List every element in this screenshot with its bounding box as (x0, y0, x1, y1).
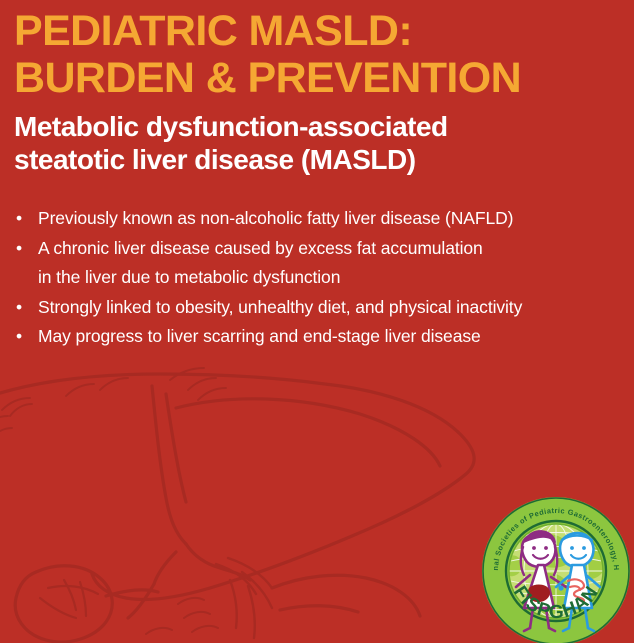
list-item-label: Previously known as non-alcoholic fatty … (38, 204, 626, 234)
bullet-dot-icon: • (16, 322, 30, 352)
page-title: PEDIATRIC MASLD: BURDEN & PREVENTION (14, 8, 620, 102)
liver-anatomy-illustration (0, 366, 540, 643)
headline-line-2: BURDEN & PREVENTION (14, 55, 620, 102)
bullet-dot-icon: • (16, 293, 30, 323)
list-item-label-continued: in the liver due to metabolic dysfunctio… (38, 263, 626, 293)
list-item: • Previously known as non-alcoholic fatt… (14, 204, 626, 234)
bullet-dot-icon: • (16, 204, 30, 234)
subtitle-line-1: Metabolic dysfunction-associated (14, 110, 614, 143)
subtitle-line-2: steatotic liver disease (MASLD) (14, 143, 614, 176)
bullet-list: • Previously known as non-alcoholic fatt… (14, 204, 626, 352)
subtitle: Metabolic dysfunction-associated steatot… (14, 110, 614, 176)
headline-line-1: PEDIATRIC MASLD: (14, 8, 620, 55)
bullet-dot-icon: • (16, 234, 30, 264)
list-item: • May progress to liver scarring and end… (14, 322, 626, 352)
list-item: • Strongly linked to obesity, unhealthy … (14, 293, 626, 323)
infographic-slide: PEDIATRIC MASLD: BURDEN & PREVENTION Met… (0, 0, 634, 643)
list-item-label: Strongly linked to obesity, unhealthy di… (38, 293, 626, 323)
list-item-label: May progress to liver scarring and end-s… (38, 322, 626, 352)
fispghan-logo: Federation of International Societies of… (480, 495, 632, 643)
list-item: • A chronic liver disease caused by exce… (14, 234, 626, 293)
list-item-label: A chronic liver disease caused by excess… (38, 234, 626, 264)
